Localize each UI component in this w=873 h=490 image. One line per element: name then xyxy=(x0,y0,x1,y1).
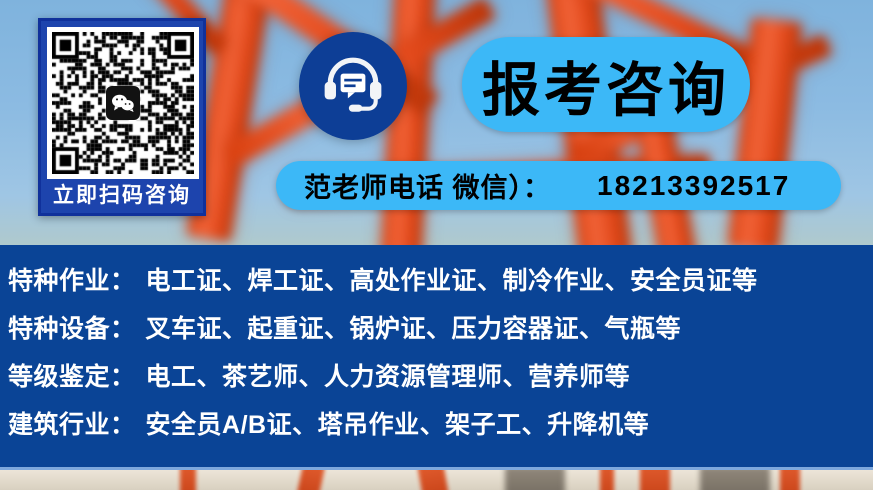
info-panel: 特种作业：电工证、焊工证、高处作业证、制冷作业、安全员证等特种设备：叉车证、起重… xyxy=(0,245,873,470)
info-row-label: 建筑行业： xyxy=(8,405,136,441)
qr-code-image[interactable] xyxy=(47,27,199,179)
phone-label: 范老师电话 微信）： xyxy=(304,166,551,205)
info-row: 等级鉴定：电工、茶艺师、人力资源管理师、营养师等 xyxy=(8,357,873,405)
promo-poster: 立即扫码咨询 报考咨询 范老师电话 微信）： 18213392517 特种作业：… xyxy=(0,0,873,490)
info-row: 特种设备：叉车证、起重证、锅炉证、压力容器证、气瓶等 xyxy=(8,309,873,357)
info-row-label: 特种作业： xyxy=(8,261,136,297)
wechat-icon xyxy=(106,86,140,120)
phone-number[interactable]: 18213392517 xyxy=(597,170,790,202)
info-row-label: 等级鉴定： xyxy=(8,357,136,393)
info-row-value: 叉车证、起重证、锅炉证、压力容器证、气瓶等 xyxy=(146,309,682,345)
info-row-list: 特种作业：电工证、焊工证、高处作业证、制冷作业、安全员证等特种设备：叉车证、起重… xyxy=(0,245,873,470)
title-pill-text: 报考咨询 xyxy=(482,43,730,127)
info-row-value: 电工、茶艺师、人力资源管理师、营养师等 xyxy=(146,357,631,393)
qr-caption: 立即扫码咨询 xyxy=(41,179,203,209)
info-row-label: 特种设备： xyxy=(8,309,136,345)
title-pill: 报考咨询 xyxy=(462,37,750,132)
info-row-value: 安全员A/B证、塔吊作业、架子工、升降机等 xyxy=(146,405,650,441)
qr-code-card[interactable]: 立即扫码咨询 xyxy=(38,18,206,216)
info-row: 建筑行业：安全员A/B证、塔吊作业、架子工、升降机等 xyxy=(8,405,873,453)
info-row-value: 电工证、焊工证、高处作业证、制冷作业、安全员证等 xyxy=(146,261,758,297)
qr-code-modules xyxy=(52,32,194,174)
phone-pill[interactable]: 范老师电话 微信）： 18213392517 xyxy=(276,161,841,210)
bottom-photo-strip xyxy=(0,470,873,490)
headset-support-icon xyxy=(299,32,407,140)
info-row: 特种作业：电工证、焊工证、高处作业证、制冷作业、安全员证等 xyxy=(8,261,873,309)
